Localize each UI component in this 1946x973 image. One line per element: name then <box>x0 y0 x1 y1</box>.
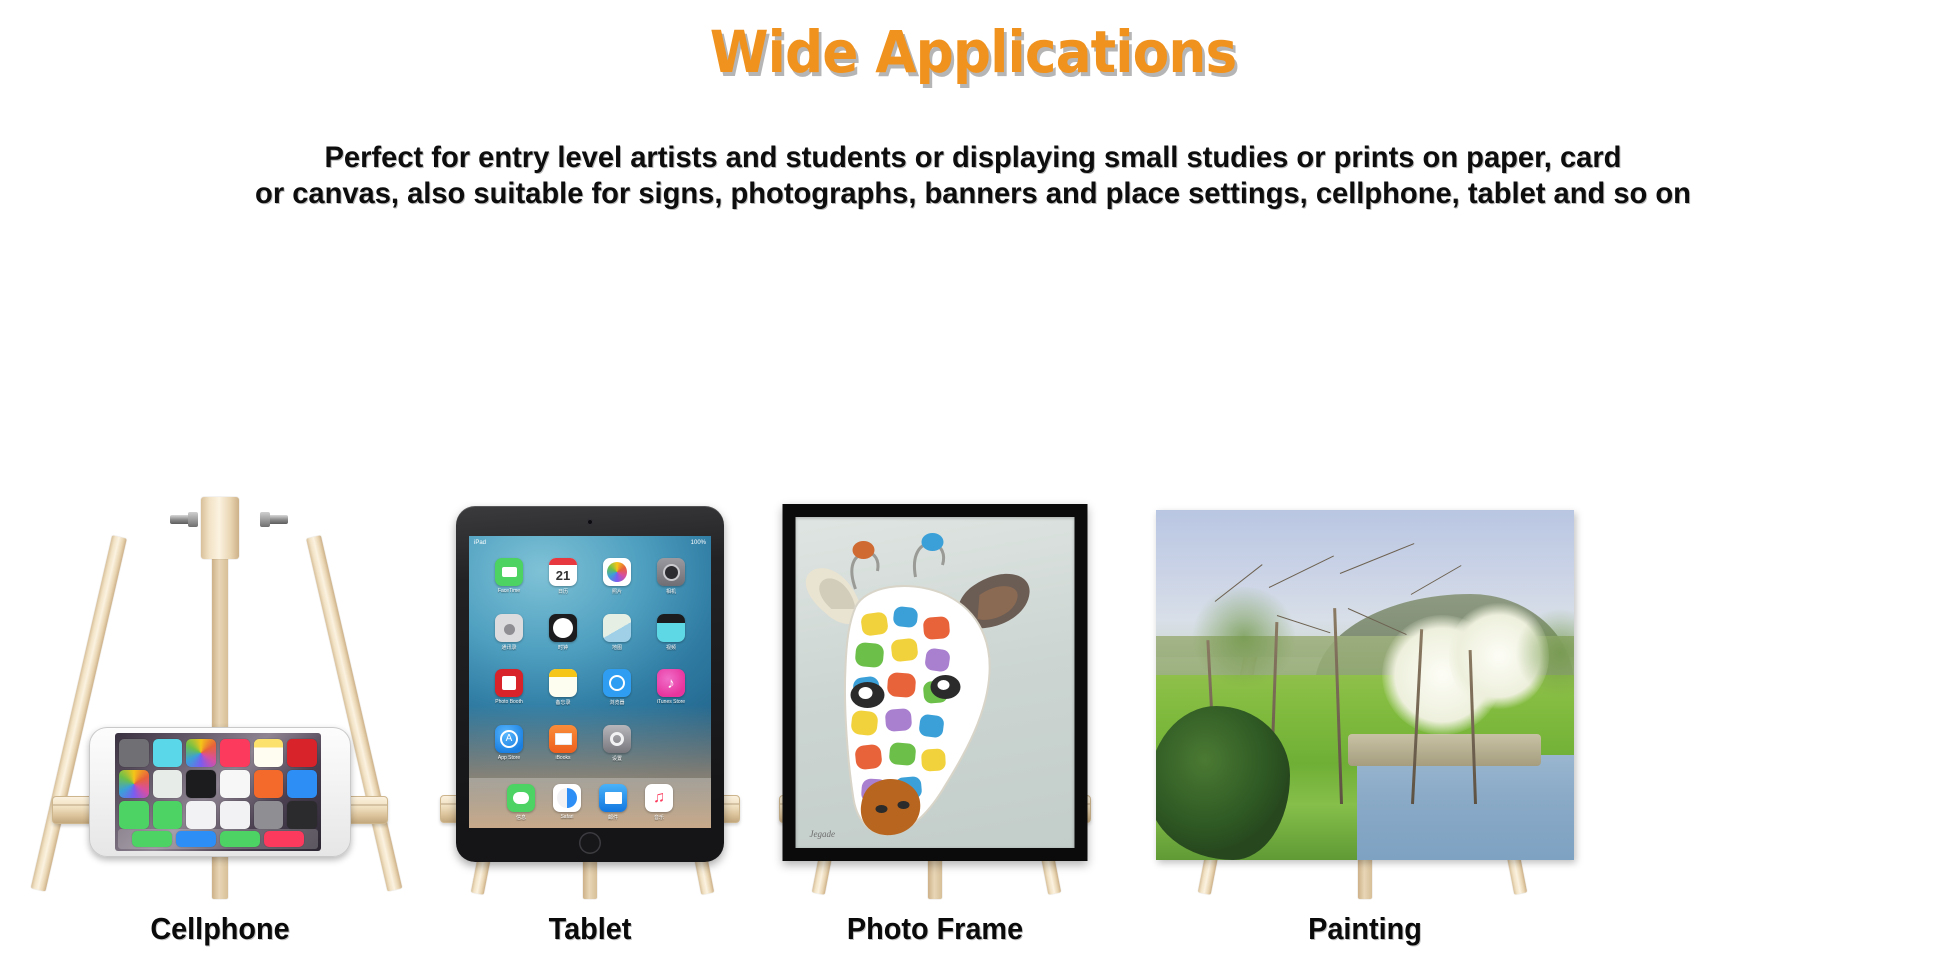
dock-icon-safari[interactable] <box>176 831 216 847</box>
notes-icon <box>549 669 577 697</box>
front-camera-icon <box>587 519 593 525</box>
dock-app-mail[interactable]: 邮件 <box>599 784 627 821</box>
app-label: Safari <box>560 814 573 820</box>
app-icon-videos[interactable] <box>153 739 183 767</box>
app-notes[interactable]: 备忘录 <box>537 669 589 719</box>
dock-app-music[interactable]: ♫ 音乐 <box>645 784 673 821</box>
giraffe-painting-svg <box>796 517 1075 848</box>
app-icon-camera[interactable] <box>119 739 149 767</box>
product-row: Cellphone iPad 100% <box>0 250 1946 973</box>
contacts-icon <box>495 614 523 642</box>
app-ibooks[interactable]: iBooks <box>537 725 589 775</box>
app-icon-messages[interactable] <box>119 801 149 829</box>
settings-icon <box>603 725 631 753</box>
app-store-icon: A <box>495 725 523 753</box>
app-icon-music[interactable] <box>220 739 250 767</box>
caption-painting: Painting <box>1123 911 1607 947</box>
easel-bolt-left <box>170 515 196 524</box>
painting-pond <box>1357 755 1574 860</box>
app-label: 设置 <box>612 755 622 762</box>
product-painting: Painting <box>1105 250 1625 973</box>
dock-icon-phone[interactable] <box>132 831 172 847</box>
subtitle-line-1: Perfect for entry level artists and stud… <box>29 140 1917 176</box>
app-label: 视频 <box>666 644 676 651</box>
page-title: Wide Applications <box>78 18 1868 86</box>
easel-bolt-right <box>262 515 288 524</box>
dock-app-safari[interactable]: Safari <box>553 784 581 820</box>
app-label: 信息 <box>516 814 526 821</box>
clock-icon <box>549 614 577 642</box>
dock-icon-music[interactable] <box>264 831 304 847</box>
app-icon-notes[interactable] <box>254 739 284 767</box>
dock-icon-messages[interactable] <box>220 831 260 847</box>
app-label: App Store <box>498 755 520 761</box>
maps-icon <box>603 614 631 642</box>
painting-bank <box>1348 734 1540 766</box>
app-browser[interactable]: 浏览器 <box>591 669 643 719</box>
app-contacts[interactable]: 通讯录 <box>483 614 535 664</box>
app-icon-ibooks[interactable] <box>254 770 284 798</box>
app-itunes-store[interactable]: ♪ iTunes Store <box>645 669 697 719</box>
dock-app-messages[interactable]: 信息 <box>507 784 535 821</box>
tablet-screen[interactable]: iPad 100% FaceTime <box>469 536 711 828</box>
mail-icon <box>599 784 627 812</box>
app-icon-stocks[interactable] <box>220 801 250 829</box>
app-icon-maps[interactable] <box>153 770 183 798</box>
facetime-icon <box>495 558 523 586</box>
app-icon-podcasts[interactable] <box>287 739 317 767</box>
product-cellphone: Cellphone <box>20 250 420 973</box>
phone-app-grid <box>119 739 317 829</box>
tablet-status-bar: iPad 100% <box>474 538 706 547</box>
caption-photo-frame: Photo Frame <box>758 911 1111 947</box>
product-tablet: iPad 100% FaceTime <box>400 250 780 973</box>
app-label: 照片 <box>612 588 622 595</box>
safari-icon <box>553 784 581 812</box>
tablet-app-grid: FaceTime 21 日历 <box>483 558 697 774</box>
tablet-dock: 信息 Safari 邮件 <box>469 778 711 828</box>
app-icon-safari[interactable] <box>287 770 317 798</box>
app-label: 通讯录 <box>501 644 516 651</box>
app-icon-reminders[interactable] <box>186 801 216 829</box>
caption-cellphone: Cellphone <box>34 911 406 947</box>
app-icon-wallet[interactable] <box>287 801 317 829</box>
subtitle-line-2: or canvas, also suitable for signs, phot… <box>29 176 1917 212</box>
easel-top-block <box>201 497 239 559</box>
status-carrier: iPad <box>474 540 486 546</box>
photo-frame[interactable]: Jegade <box>783 504 1088 861</box>
app-label: 邮件 <box>608 814 618 821</box>
smartphone-device[interactable] <box>89 727 351 857</box>
painting-canopy-1 <box>1189 587 1299 687</box>
app-label: 音乐 <box>654 814 664 821</box>
app-empty-slot <box>645 725 697 775</box>
app-label: iTunes Store <box>657 699 685 705</box>
phone-dock <box>118 829 318 849</box>
app-label: FaceTime <box>498 588 520 594</box>
app-icon-settings[interactable] <box>254 801 284 829</box>
status-battery: 100% <box>691 540 706 546</box>
app-label: iBooks <box>555 755 570 761</box>
app-app-store[interactable]: A App Store <box>483 725 535 775</box>
app-clock[interactable]: 时钟 <box>537 614 589 664</box>
app-label: 浏览器 <box>609 699 624 706</box>
app-settings[interactable]: 设置 <box>591 725 643 775</box>
app-label: 时钟 <box>558 644 568 651</box>
app-photos[interactable]: 照片 <box>591 558 643 608</box>
app-icon-facetime[interactable] <box>153 801 183 829</box>
messages-icon <box>507 784 535 812</box>
videos-icon <box>657 614 685 642</box>
wide-applications-banner: Wide Applications Perfect for entry leve… <box>0 0 1946 973</box>
app-label: Photo Booth <box>495 699 523 705</box>
ibooks-icon <box>549 725 577 753</box>
artwork-signature: Jegade <box>810 829 835 839</box>
itunes-store-icon: ♪ <box>657 669 685 697</box>
calendar-icon: 21 <box>549 558 577 586</box>
browser-icon <box>603 669 631 697</box>
app-photo-booth[interactable]: Photo Booth <box>483 669 535 719</box>
subtitle-block: Perfect for entry level artists and stud… <box>29 140 1917 212</box>
app-videos[interactable]: 视频 <box>645 614 697 664</box>
app-label: 地图 <box>612 644 622 651</box>
painting-foreground-bush <box>1156 706 1290 860</box>
phone-screen[interactable] <box>115 733 321 851</box>
app-maps[interactable]: 地图 <box>591 614 643 664</box>
tablet-device[interactable]: iPad 100% FaceTime <box>456 506 724 862</box>
frame-artwork-giraffe: Jegade <box>796 517 1075 848</box>
app-facetime[interactable]: FaceTime <box>483 558 535 608</box>
app-icon-clock[interactable] <box>186 770 216 798</box>
caption-tablet: Tablet <box>413 911 766 947</box>
product-photo-frame: Jegade Photo Frame <box>745 250 1125 973</box>
music-icon: ♫ <box>645 784 673 812</box>
app-calendar[interactable]: 21 日历 <box>537 558 589 608</box>
camera-icon <box>657 558 685 586</box>
app-label: 相机 <box>666 588 676 595</box>
app-icon-photos[interactable] <box>186 739 216 767</box>
app-label: 备忘录 <box>555 699 570 706</box>
photo-booth-icon <box>495 669 523 697</box>
app-label: 日历 <box>558 588 568 595</box>
home-button[interactable] <box>579 832 601 854</box>
photos-icon <box>603 558 631 586</box>
canvas-painting-landscape[interactable] <box>1156 510 1574 860</box>
app-camera[interactable]: 相机 <box>645 558 697 608</box>
app-icon-photos-2[interactable] <box>119 770 149 798</box>
app-icon-health[interactable] <box>220 770 250 798</box>
